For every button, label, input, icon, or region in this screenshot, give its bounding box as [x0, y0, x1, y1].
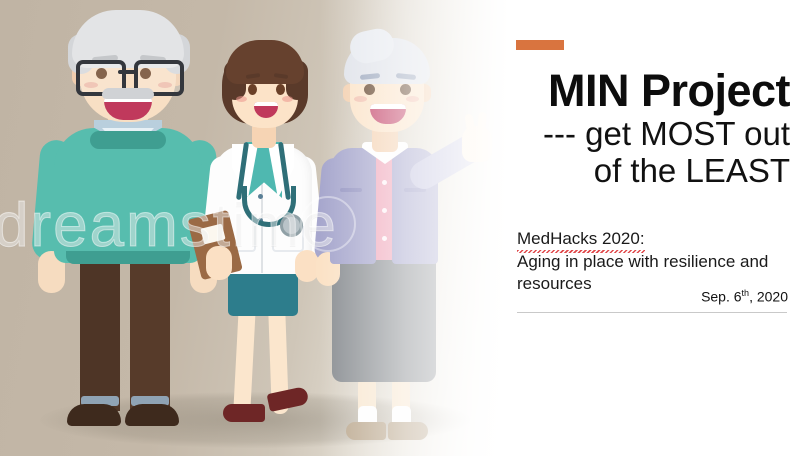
doctor-eye-left: [248, 84, 257, 95]
man-leg-right: [130, 251, 170, 411]
date-year: , 2020: [749, 289, 788, 305]
doctor-hair-top: [226, 40, 304, 84]
divider: [517, 312, 787, 313]
doctor-heel-left: [223, 404, 265, 422]
title-block: MIN Project --- get MOST out of the LEAS…: [500, 68, 790, 190]
man-leg-left: [80, 251, 120, 411]
glasses-icon: [76, 60, 180, 88]
presentation-slide: dreamstime MIN Project --- get MOST out …: [0, 0, 806, 456]
doctor-leg-left: [233, 306, 256, 415]
man-shoe-right: [125, 404, 179, 426]
title-illustration: dreamstime: [0, 0, 510, 456]
subtitle-block: MedHacks 2020: Aging in place with resil…: [517, 228, 789, 296]
doctor-eye-right: [276, 84, 285, 95]
date-text: Sep. 6: [701, 289, 741, 305]
doctor-blush-right: [282, 96, 293, 102]
doctor-hand-left: [206, 246, 232, 280]
man-glasses-bridge: [118, 70, 136, 74]
date-ordinal-suffix: th: [742, 288, 750, 298]
presentation-date: Sep. 6th, 2020: [517, 288, 788, 305]
subtitle-line-one: Aging in place with resilience and: [517, 251, 789, 274]
event-name: MedHacks 2020:: [517, 228, 645, 251]
event-name-line: MedHacks 2020:: [517, 228, 789, 251]
doctor-teeth: [254, 102, 278, 106]
man-sweater-hem: [66, 251, 190, 264]
man-shoe-left: [67, 404, 121, 426]
illustration-fade-overlay: [320, 0, 510, 456]
page-title: MIN Project: [500, 68, 790, 115]
doctor-blush-left: [236, 96, 247, 102]
title-subline-one: --- get MOST out: [500, 115, 790, 153]
title-subline-two: of the LEAST: [500, 152, 790, 190]
accent-bar: [516, 40, 564, 50]
man-mustache: [102, 88, 154, 99]
figure-female-doctor: [196, 38, 328, 442]
doctor-stethoscope-bell: [280, 214, 303, 237]
man-sweater-neckband: [90, 131, 166, 149]
